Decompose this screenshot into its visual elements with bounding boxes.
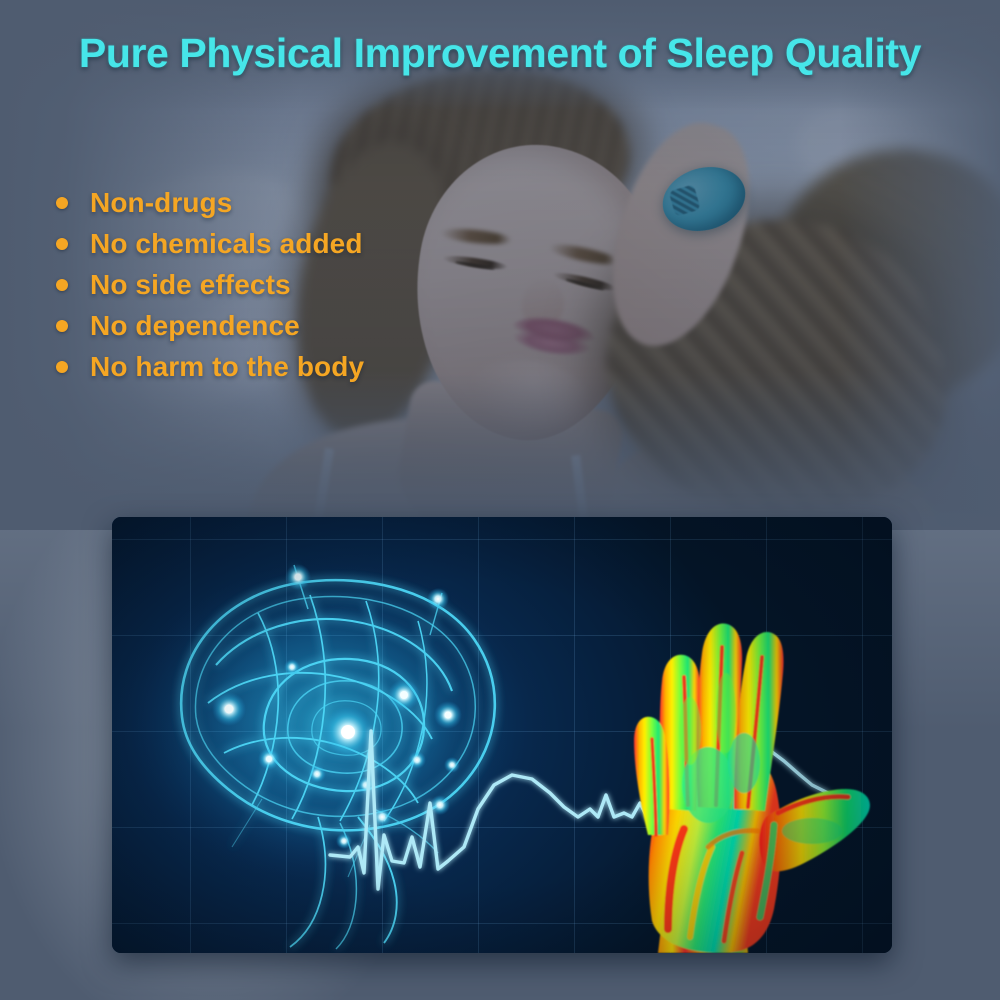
bullet-dot-icon: [56, 238, 68, 250]
photo-edge-right: [840, 0, 1000, 530]
bullet-dot-icon: [56, 279, 68, 291]
benefit-label: No side effects: [90, 269, 291, 301]
list-item: No dependence: [48, 305, 608, 346]
bullet-dot-icon: [56, 361, 68, 373]
benefit-label: No dependence: [90, 310, 300, 342]
panel-vignette: [112, 517, 892, 953]
list-item: No harm to the body: [48, 346, 608, 387]
list-item: No chemicals added: [48, 223, 608, 264]
benefit-label: No harm to the body: [90, 351, 364, 383]
benefit-label: No chemicals added: [90, 228, 363, 260]
page-title: Pure Physical Improvement of Sleep Quali…: [0, 30, 1000, 77]
benefit-label: Non-drugs: [90, 187, 232, 219]
list-item: No side effects: [48, 264, 608, 305]
promo-graphic: Pure Physical Improvement of Sleep Quali…: [0, 0, 1000, 1000]
list-item: Non-drugs: [48, 182, 608, 223]
benefits-list: Non-drugs No chemicals added No side eff…: [48, 182, 608, 387]
bullet-dot-icon: [56, 197, 68, 209]
bullet-dot-icon: [56, 320, 68, 332]
science-visual-panel: [112, 517, 892, 953]
